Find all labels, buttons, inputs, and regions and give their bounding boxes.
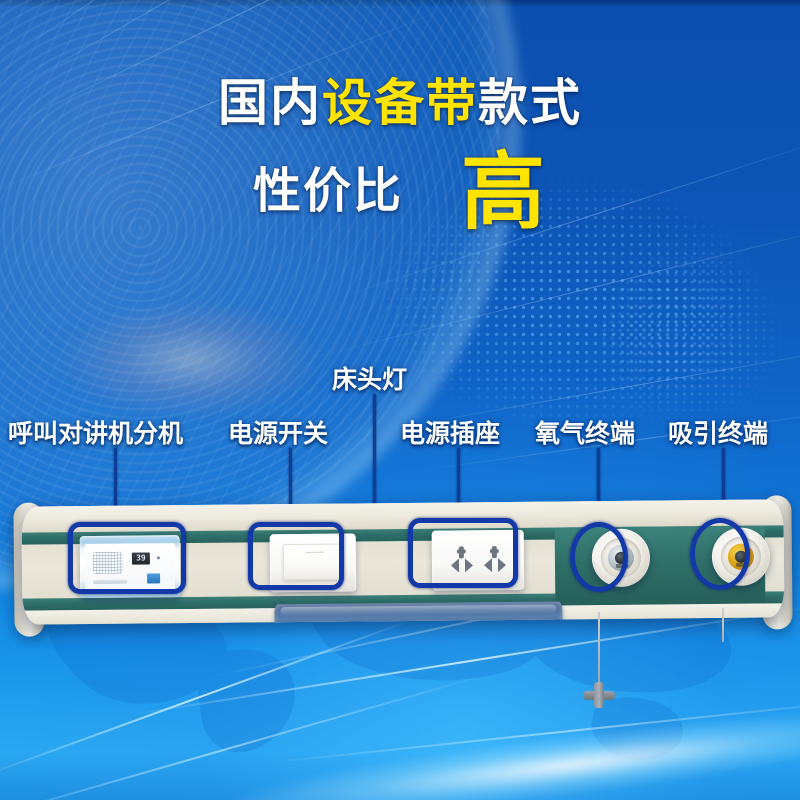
promo-image-canvas: 国内设备带款式 性价比高 呼叫对讲机分机电源开关床头灯电源插座氧气终端吸引终端 … <box>0 0 800 800</box>
oxygen-probe-cable <box>598 612 600 690</box>
callout-label-oxygen: 氧气终端 <box>535 414 635 450</box>
highlight-circle-suction <box>690 518 750 590</box>
highlight-box-power-switch <box>248 522 344 590</box>
highlight-box-intercom <box>68 522 186 594</box>
callout-label-power-switch: 电源开关 <box>228 414 328 450</box>
probe-cross-vertical <box>594 682 604 708</box>
callout-label-power-outlet: 电源插座 <box>400 414 500 450</box>
callout-label-suction: 吸引终端 <box>668 414 768 450</box>
bed-lamp-gloss <box>280 605 556 617</box>
callout-label-bed-lamp: 床头灯 <box>332 360 407 396</box>
highlight-circle-oxygen <box>570 522 628 592</box>
oxygen-probe-connector-icon <box>583 682 615 708</box>
bed-lamp-module[interactable] <box>274 601 562 624</box>
suction-probe-cable <box>722 608 724 642</box>
highlight-box-power-outlet <box>408 518 518 588</box>
callout-label-intercom: 呼叫对讲机分机 <box>8 414 183 450</box>
callout-layer: 呼叫对讲机分机电源开关床头灯电源插座氧气终端吸引终端 <box>0 0 800 800</box>
